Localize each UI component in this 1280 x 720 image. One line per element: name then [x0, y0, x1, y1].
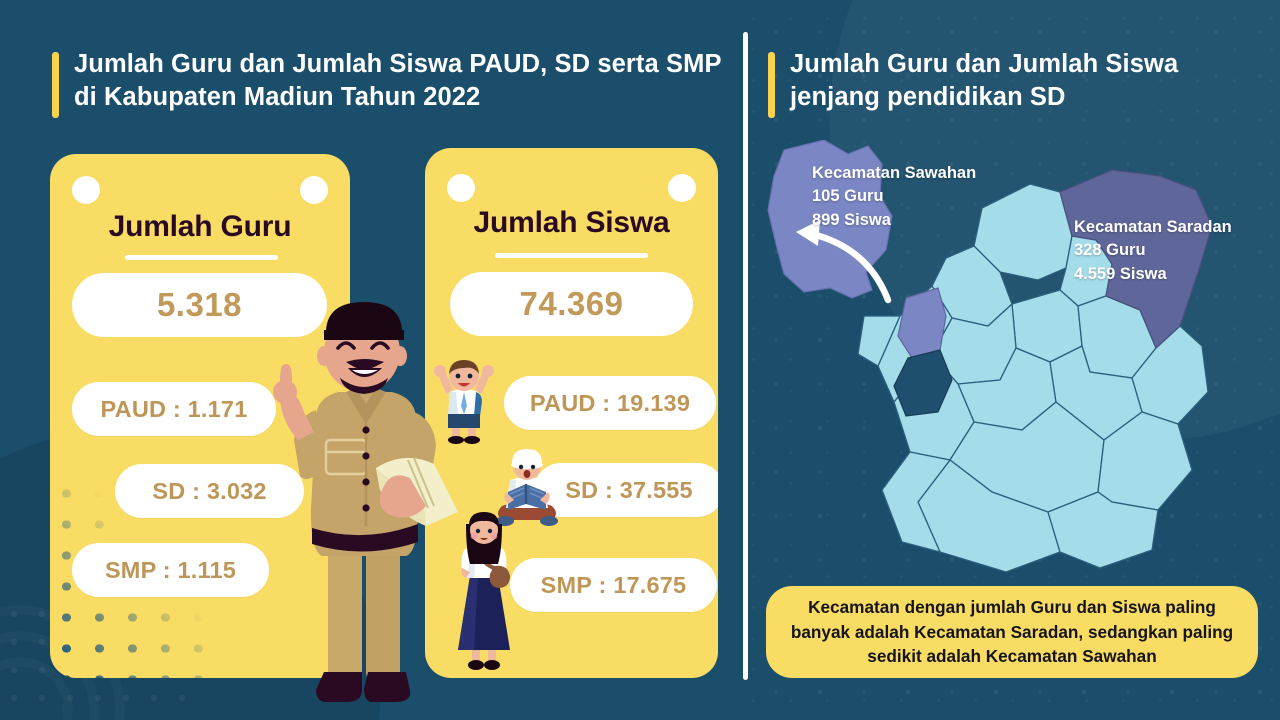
student-girl-illustration [448, 510, 520, 672]
map-label-saradan-students: 4.559 Siswa [1074, 263, 1232, 286]
title-accent-bar-right [768, 52, 775, 118]
map-label-saradan-name: Kecamatan Saradan [1074, 216, 1232, 239]
map-caption-text: Kecamatan dengan jumlah Guru dan Siswa p… [782, 595, 1242, 670]
map-label-saradan-teachers: 328 Guru [1074, 239, 1232, 262]
title-accent-bar-left [52, 52, 59, 118]
map-label-sawahan: Kecamatan Sawahan 105 Guru 899 Siswa [812, 162, 976, 232]
card-guru-underline [125, 255, 278, 260]
card-hole-dot-right [300, 176, 328, 204]
page-title-left-text: Jumlah Guru dan Jumlah Siswa PAUD, SD se… [74, 50, 721, 111]
map-caption-box: Kecamatan dengan jumlah Guru dan Siswa p… [766, 586, 1258, 678]
card-siswa-underline [495, 253, 648, 258]
page-title-right: Jumlah Guru dan Jumlah Siswa jenjang pen… [768, 48, 1260, 113]
card-hole-dot-left [72, 176, 100, 204]
panel-divider [743, 32, 748, 680]
card-guru-smp: SMP : 1.115 [72, 543, 269, 597]
card-hole-dot-right [668, 174, 696, 202]
card-guru-paud: PAUD : 1.171 [72, 382, 276, 436]
map-label-sawahan-teachers: 105 Guru [812, 185, 976, 208]
page-title-left: Jumlah Guru dan Jumlah Siswa PAUD, SD se… [52, 48, 734, 113]
map-label-saradan: Kecamatan Saradan 328 Guru 4.559 Siswa [1074, 216, 1232, 286]
card-siswa-total: 74.369 [450, 272, 693, 336]
page-title-right-text: Jumlah Guru dan Jumlah Siswa jenjang pen… [790, 50, 1178, 111]
map-label-sawahan-students: 899 Siswa [812, 209, 976, 232]
infographic-canvas: Jumlah Guru dan Jumlah Siswa PAUD, SD se… [0, 0, 1280, 720]
map-label-sawahan-name: Kecamatan Sawahan [812, 162, 976, 185]
card-siswa-paud: PAUD : 19.139 [504, 376, 716, 430]
map-kabupaten-madiun: Kecamatan Sawahan 105 Guru 899 Siswa Kec… [760, 140, 1270, 580]
card-siswa-smp: SMP : 17.675 [510, 558, 717, 612]
card-hole-dot-left [447, 174, 475, 202]
card-siswa-heading: Jumlah Siswa [425, 206, 718, 240]
card-guru-heading: Jumlah Guru [50, 210, 350, 244]
student-boy-cheering-illustration [428, 358, 500, 444]
